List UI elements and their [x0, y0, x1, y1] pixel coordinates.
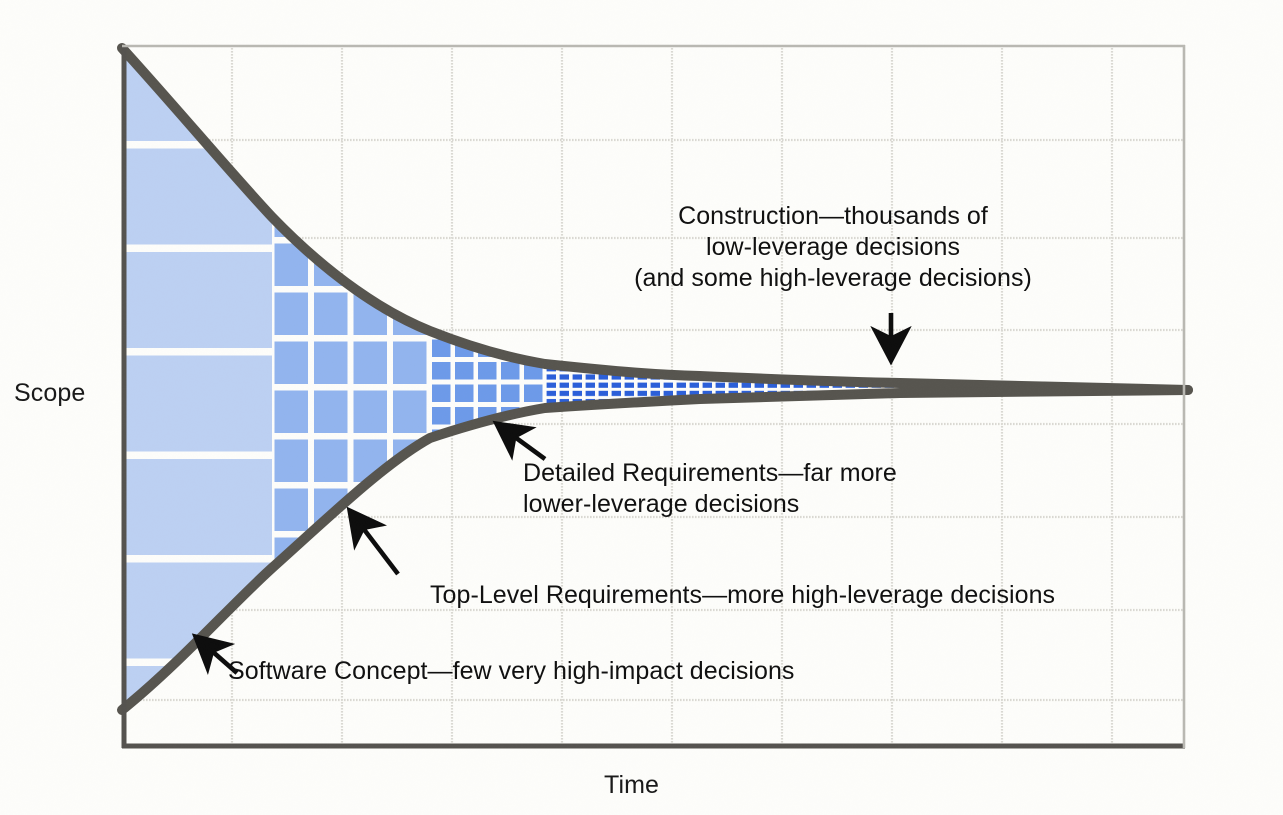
annotation-software-concept: Software Concept—few very high-impact de… — [228, 656, 795, 687]
x-axis-label: Time — [604, 771, 659, 800]
annotation-construction-line-2: low-leverage decisions — [613, 232, 1053, 263]
y-axis-label: Scope — [14, 379, 85, 408]
annotation-detailed-requirements: Detailed Requirements—far more lower-lev… — [523, 458, 897, 520]
annotation-construction-line-1: Construction—thousands of — [613, 201, 1053, 232]
annotation-construction-line-3: (and some high-leverage decisions) — [613, 263, 1053, 294]
annotation-detailed-requirements-line-1: Detailed Requirements—far more — [523, 458, 897, 489]
annotation-software-concept-line-1: Software Concept—few very high-impact de… — [228, 656, 795, 687]
annotation-top-level-requirements: Top-Level Requirements—more high-leverag… — [430, 580, 1055, 611]
scope-over-time-funnel-chart — [0, 0, 1283, 815]
scan-grain-overlay — [0, 0, 1283, 815]
annotation-top-level-requirements-line-1: Top-Level Requirements—more high-leverag… — [430, 580, 1055, 611]
annotation-construction: Construction—thousands of low-leverage d… — [613, 201, 1053, 294]
annotation-detailed-requirements-line-2: lower-leverage decisions — [523, 489, 897, 520]
